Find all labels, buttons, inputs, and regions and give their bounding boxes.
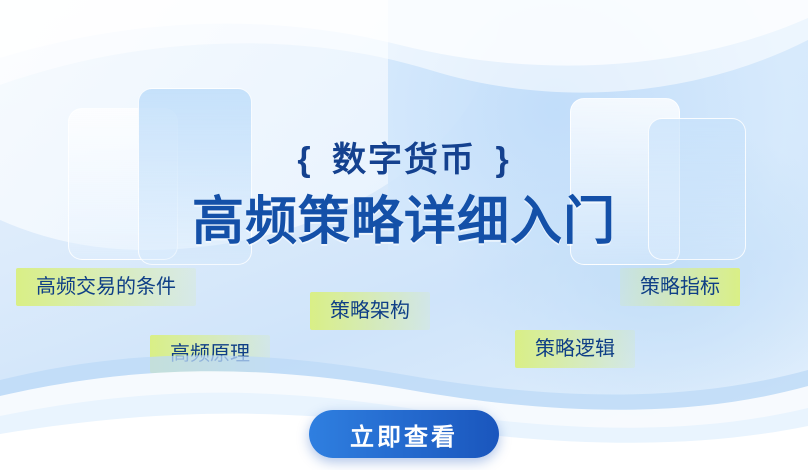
kicker-open-brace: {	[295, 141, 314, 179]
kicker-close-brace: }	[493, 141, 512, 179]
kicker-line: { 数字货币 }	[0, 132, 808, 181]
keyword-tag-2: 策略架构	[310, 292, 430, 330]
keyword-tag-1: 高频交易的条件	[16, 268, 196, 306]
page-title: 高频策略详细入门	[0, 196, 808, 248]
kicker-text: 数字货币	[326, 132, 482, 181]
view-now-button[interactable]: 立即查看	[309, 410, 499, 458]
keyword-tag-3: 策略指标	[620, 268, 740, 306]
promo-banner: { 数字货币 } 高频策略详细入门 高频交易的条件 策略架构 策略指标 高频原理…	[0, 0, 808, 470]
